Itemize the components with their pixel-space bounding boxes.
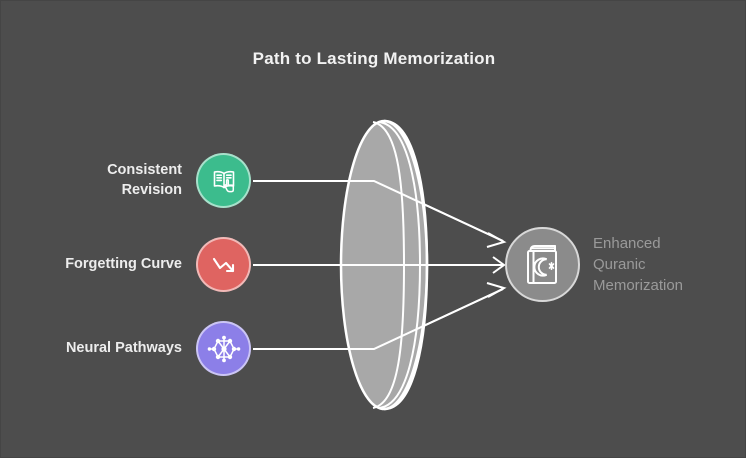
quran-book-crescent-icon	[522, 242, 564, 288]
source-label-forgetting-curve: Forgetting Curve	[65, 255, 196, 274]
source-label-consistent-revision: Consistent Revision	[107, 161, 196, 199]
network-nodes-icon	[207, 332, 241, 366]
source-label-neural-pathways: Neural Pathways	[66, 339, 196, 358]
diagram-canvas: Path to Lasting Memorization	[0, 0, 746, 458]
source-icon-circle-forgetting-curve[interactable]	[196, 237, 251, 292]
target-label: Enhanced Quranic Memorization	[580, 233, 683, 297]
source-node-neural-pathways[interactable]: Neural Pathways	[1, 321, 251, 376]
source-icon-circle-neural-pathways[interactable]	[196, 321, 251, 376]
source-node-consistent-revision[interactable]: Consistent Revision	[1, 153, 251, 208]
connector-overlay-revision	[253, 181, 503, 241]
source-node-forgetting-curve[interactable]: Forgetting Curve	[1, 237, 251, 292]
connector-overlay-neural	[253, 289, 503, 349]
source-icon-circle-consistent-revision[interactable]	[196, 153, 251, 208]
downward-trend-arrow-icon	[208, 249, 240, 281]
target-node-enhanced-quranic-memorization[interactable]: Enhanced Quranic Memorization	[505, 227, 683, 302]
target-icon-circle[interactable]	[505, 227, 580, 302]
open-book-hand-icon	[208, 165, 240, 197]
